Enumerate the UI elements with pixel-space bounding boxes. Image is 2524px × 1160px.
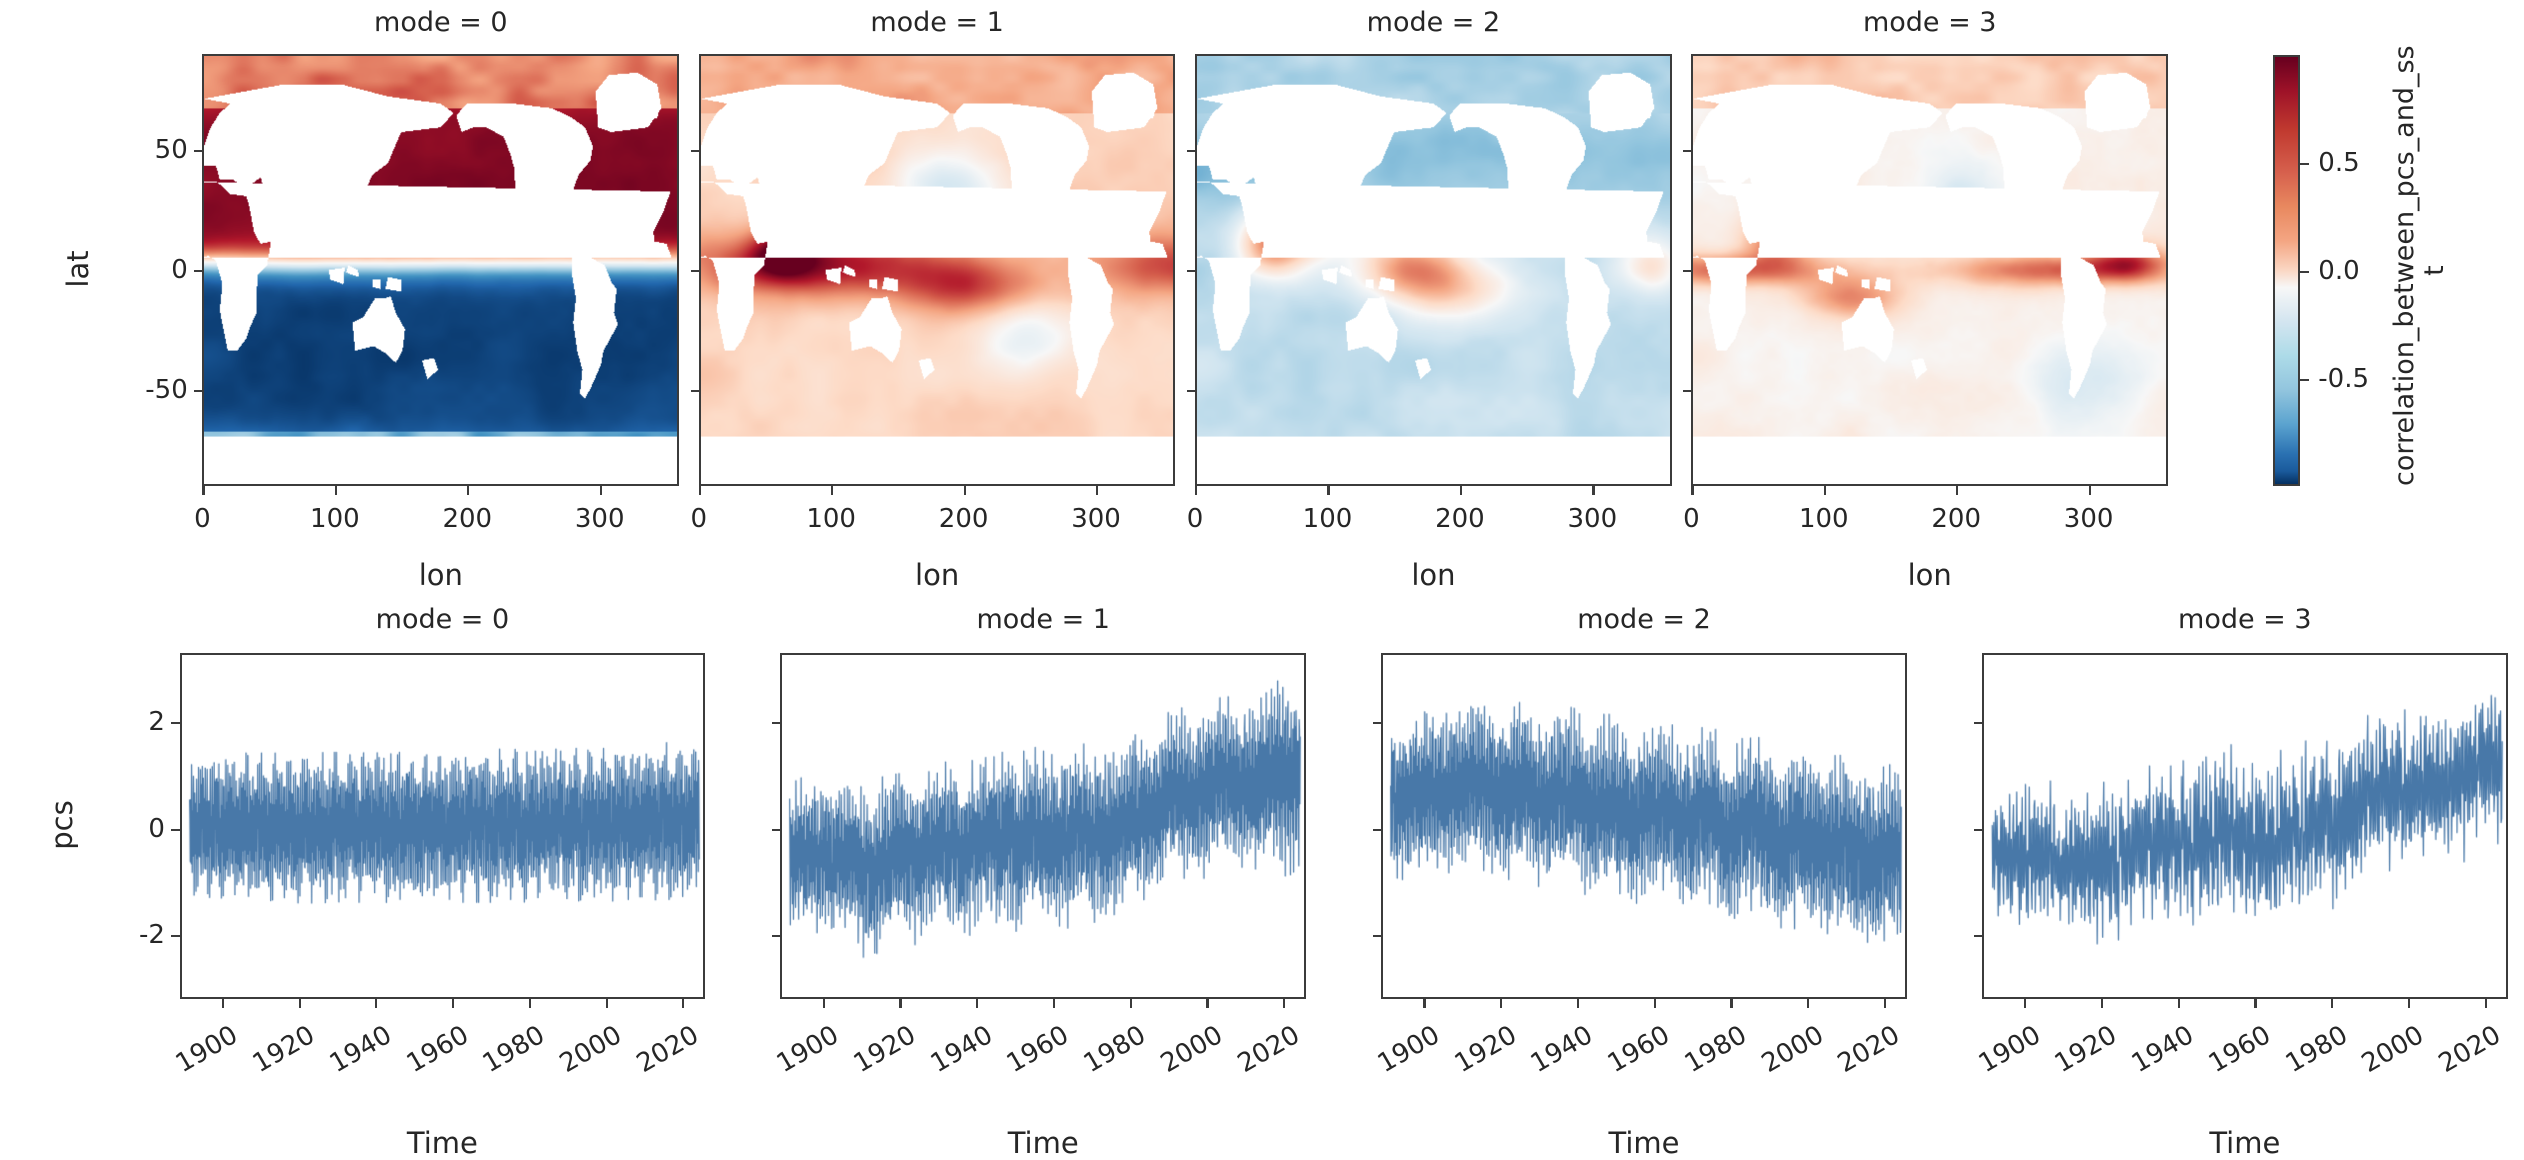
timeseries-xtick-label: 1900: [1973, 1020, 2045, 1079]
timeseries-xaxis-label: Time: [1982, 1126, 2508, 1160]
timeseries-line-mode-0: [182, 655, 704, 997]
map-title-mode-0: mode = 0: [202, 7, 679, 38]
map-xtick-mark: [202, 486, 204, 495]
map-ytick-mark: [1187, 390, 1196, 392]
map-xtick-label: 100: [1303, 504, 1353, 534]
map-ytick-mark: [194, 390, 203, 392]
map-axes-mode-3: [1691, 54, 2168, 487]
timeseries-line-mode-2: [1383, 655, 1905, 997]
timeseries-xtick-label: 1920: [849, 1020, 921, 1079]
timeseries-xtick-mark: [1654, 999, 1656, 1008]
map-ytick-mark: [691, 390, 700, 392]
timeseries-xtick-label: 1980: [478, 1020, 550, 1079]
timeseries-xtick-label: 2000: [1756, 1020, 1828, 1079]
timeseries-xtick-label: 1960: [2204, 1020, 2276, 1079]
map-xtick-label: 0: [194, 504, 211, 534]
timeseries-ytick-mark: [1373, 829, 1382, 831]
timeseries-xtick-mark: [899, 999, 901, 1008]
timeseries-xtick-label: 1960: [1002, 1020, 1074, 1079]
timeseries-axes-mode-3: [1982, 653, 2508, 999]
timeseries-xtick-label: 1940: [1526, 1020, 1598, 1079]
timeseries-ytick-mark: [1974, 829, 1983, 831]
timeseries-xtick-mark: [1206, 999, 1208, 1008]
timeseries-ytick-mark: [1974, 722, 1983, 724]
timeseries-axes-mode-0: [180, 653, 706, 999]
timeseries-xtick-label: 1940: [325, 1020, 397, 1079]
map-title-mode-2: mode = 2: [1195, 7, 1672, 38]
timeseries-title-mode-0: mode = 0: [180, 604, 706, 635]
timeseries-ytick-mark: [772, 829, 781, 831]
timeseries-xtick-label: 2020: [1833, 1020, 1905, 1079]
timeseries-xtick-mark: [2408, 999, 2410, 1008]
timeseries-xtick-mark: [606, 999, 608, 1008]
timeseries-ytick-label: 2: [148, 707, 165, 737]
map-xaxis-label: lon: [202, 558, 679, 592]
map-xaxis-label: lon: [1195, 558, 1672, 592]
timeseries-xtick-label: 1920: [1449, 1020, 1521, 1079]
timeseries-axes-mode-1: [780, 653, 1306, 999]
map-heatmap-mode-2: [1197, 56, 1670, 485]
map-heatmap-mode-0: [204, 56, 677, 485]
map-axes-mode-1: [699, 54, 1176, 487]
timeseries-xtick-mark: [222, 999, 224, 1008]
map-xtick-label: 300: [1071, 504, 1121, 534]
timeseries-xtick-label: 2020: [631, 1020, 703, 1079]
map-ytick-mark: [1683, 270, 1692, 272]
timeseries-ytick-mark: [772, 722, 781, 724]
map-title-mode-3: mode = 3: [1691, 7, 2168, 38]
timeseries-xtick-label: 1900: [171, 1020, 243, 1079]
timeseries-xtick-label: 1920: [2050, 1020, 2122, 1079]
map-xtick-label: 300: [2064, 504, 2114, 534]
timeseries-xtick-label: 2020: [2434, 1020, 2506, 1079]
map-axes-mode-2: [1195, 54, 1672, 487]
timeseries-ytick-mark: [1373, 722, 1382, 724]
map-heatmap-mode-1: [701, 56, 1174, 485]
timeseries-xtick-mark: [976, 999, 978, 1008]
timeseries-xtick-mark: [1730, 999, 1732, 1008]
timeseries-xtick-mark: [1577, 999, 1579, 1008]
colorbar-tick-label: 0.0: [2318, 256, 2359, 286]
timeseries-xtick-label: 2000: [2357, 1020, 2429, 1079]
map-xtick-mark: [1327, 486, 1329, 495]
timeseries-xtick-mark: [529, 999, 531, 1008]
map-xtick-label: 0: [690, 504, 707, 534]
map-ytick-label: 50: [155, 135, 188, 165]
colorbar-gradient: [2273, 55, 2301, 486]
timeseries-ytick-mark: [772, 935, 781, 937]
map-ytick-mark: [1683, 390, 1692, 392]
timeseries-ytick-mark: [171, 935, 180, 937]
map-xtick-label: 200: [442, 504, 492, 534]
map-xtick-label: 0: [1187, 504, 1204, 534]
map-xtick-mark: [699, 486, 701, 495]
map-xtick-mark: [1824, 486, 1826, 495]
timeseries-ytick-mark: [171, 722, 180, 724]
timeseries-xtick-label: 1940: [925, 1020, 997, 1079]
map-xtick-mark: [831, 486, 833, 495]
timeseries-xtick-mark: [1884, 999, 1886, 1008]
map-ytick-mark: [194, 150, 203, 152]
map-xtick-label: 100: [310, 504, 360, 534]
timeseries-axes-mode-2: [1381, 653, 1907, 999]
timeseries-xtick-mark: [1500, 999, 1502, 1008]
timeseries-xtick-label: 2000: [555, 1020, 627, 1079]
colorbar-label-line2: t: [2420, 56, 2450, 487]
map-xtick-label: 300: [1568, 504, 1618, 534]
timeseries-xtick-label: 1920: [248, 1020, 320, 1079]
map-xtick-label: 200: [1931, 504, 1981, 534]
timeseries-xaxis-label: Time: [180, 1126, 706, 1160]
timeseries-xtick-label: 2000: [1156, 1020, 1228, 1079]
map-axes-mode-0: [202, 54, 679, 487]
timeseries-title-mode-2: mode = 2: [1381, 604, 1907, 635]
map-ytick-mark: [1187, 150, 1196, 152]
map-xtick-mark: [1691, 486, 1693, 495]
map-heatmap-mode-3: [1693, 56, 2166, 485]
timeseries-xaxis-label: Time: [1381, 1126, 1907, 1160]
map-xtick-label: 0: [1683, 504, 1700, 534]
colorbar-axis-label: correlation_between_pcs_and_sst: [2390, 56, 2450, 487]
map-xtick-label: 200: [939, 504, 989, 534]
map-xtick-label: 100: [806, 504, 856, 534]
colorbar-tick-mark: [2300, 379, 2309, 381]
map-xtick-label: 200: [1435, 504, 1485, 534]
map-ytick-mark: [691, 150, 700, 152]
map-xtick-mark: [964, 486, 966, 495]
timeseries-xtick-mark: [1053, 999, 1055, 1008]
timeseries-ytick-label: 0: [148, 814, 165, 844]
colorbar-tick-mark: [2300, 163, 2309, 165]
timeseries-xtick-mark: [2331, 999, 2333, 1008]
timeseries-xtick-mark: [1423, 999, 1425, 1008]
timeseries-xtick-mark: [2485, 999, 2487, 1008]
timeseries-xtick-label: 1960: [401, 1020, 473, 1079]
timeseries-xtick-label: 1980: [2280, 1020, 2352, 1079]
colorbar-tick-label: 0.5: [2318, 148, 2359, 178]
timeseries-xtick-mark: [1130, 999, 1132, 1008]
map-xtick-mark: [1956, 486, 1958, 495]
timeseries-xtick-label: 1960: [1603, 1020, 1675, 1079]
map-ytick-label: 0: [171, 255, 188, 285]
map-ytick-mark: [691, 270, 700, 272]
timeseries-xaxis-label: Time: [780, 1126, 1306, 1160]
timeseries-title-mode-1: mode = 1: [780, 604, 1306, 635]
timeseries-xtick-mark: [2178, 999, 2180, 1008]
figure-canvas: mode = 00100200300lon500-50mode = 101002…: [0, 0, 2524, 1154]
timeseries-xtick-label: 1980: [1680, 1020, 1752, 1079]
timeseries-xtick-mark: [375, 999, 377, 1008]
timeseries-xtick-mark: [452, 999, 454, 1008]
timeseries-xtick-mark: [2024, 999, 2026, 1008]
timeseries-xtick-mark: [823, 999, 825, 1008]
map-xaxis-label: lon: [1691, 558, 2168, 592]
colorbar-tick-label: -0.5: [2318, 364, 2369, 394]
timeseries-ytick-mark: [1373, 935, 1382, 937]
map-xtick-mark: [1096, 486, 1098, 495]
timeseries-xtick-mark: [1807, 999, 1809, 1008]
map-xtick-mark: [335, 486, 337, 495]
map-xtick-label: 100: [1799, 504, 1849, 534]
map-xtick-mark: [1592, 486, 1594, 495]
colorbar-label-line1: correlation_between_pcs_and_ss: [2390, 56, 2420, 487]
timeseries-line-mode-3: [1984, 655, 2506, 997]
colorbar-tick-mark: [2300, 271, 2309, 273]
timeseries-xtick-label: 1900: [1373, 1020, 1445, 1079]
map-ytick-mark: [1187, 270, 1196, 272]
timeseries-xtick-label: 1940: [2127, 1020, 2199, 1079]
map-xtick-mark: [600, 486, 602, 495]
timeseries-xtick-mark: [682, 999, 684, 1008]
timeseries-xtick-label: 1900: [772, 1020, 844, 1079]
timeseries-xtick-mark: [2254, 999, 2256, 1008]
colorbar: [2273, 55, 2301, 486]
map-xtick-mark: [1195, 486, 1197, 495]
map-xaxis-label: lon: [699, 558, 1176, 592]
map-xtick-label: 300: [575, 504, 625, 534]
timeseries-title-mode-3: mode = 3: [1982, 604, 2508, 635]
map-xtick-mark: [1460, 486, 1462, 495]
timeseries-xtick-mark: [2101, 999, 2103, 1008]
timeseries-yaxis-label: pcs: [45, 780, 79, 870]
timeseries-xtick-mark: [1283, 999, 1285, 1008]
timeseries-ytick-mark: [171, 829, 180, 831]
timeseries-ytick-label: -2: [139, 920, 165, 950]
map-ytick-mark: [1683, 150, 1692, 152]
map-ytick-label: -50: [145, 375, 187, 405]
timeseries-ytick-mark: [1974, 935, 1983, 937]
map-yaxis-label: lat: [61, 229, 95, 309]
timeseries-line-mode-1: [782, 655, 1304, 997]
map-title-mode-1: mode = 1: [699, 7, 1176, 38]
map-xtick-mark: [2089, 486, 2091, 495]
timeseries-xtick-label: 2020: [1232, 1020, 1304, 1079]
map-xtick-mark: [467, 486, 469, 495]
map-ytick-mark: [194, 270, 203, 272]
timeseries-xtick-mark: [299, 999, 301, 1008]
timeseries-xtick-label: 1980: [1079, 1020, 1151, 1079]
